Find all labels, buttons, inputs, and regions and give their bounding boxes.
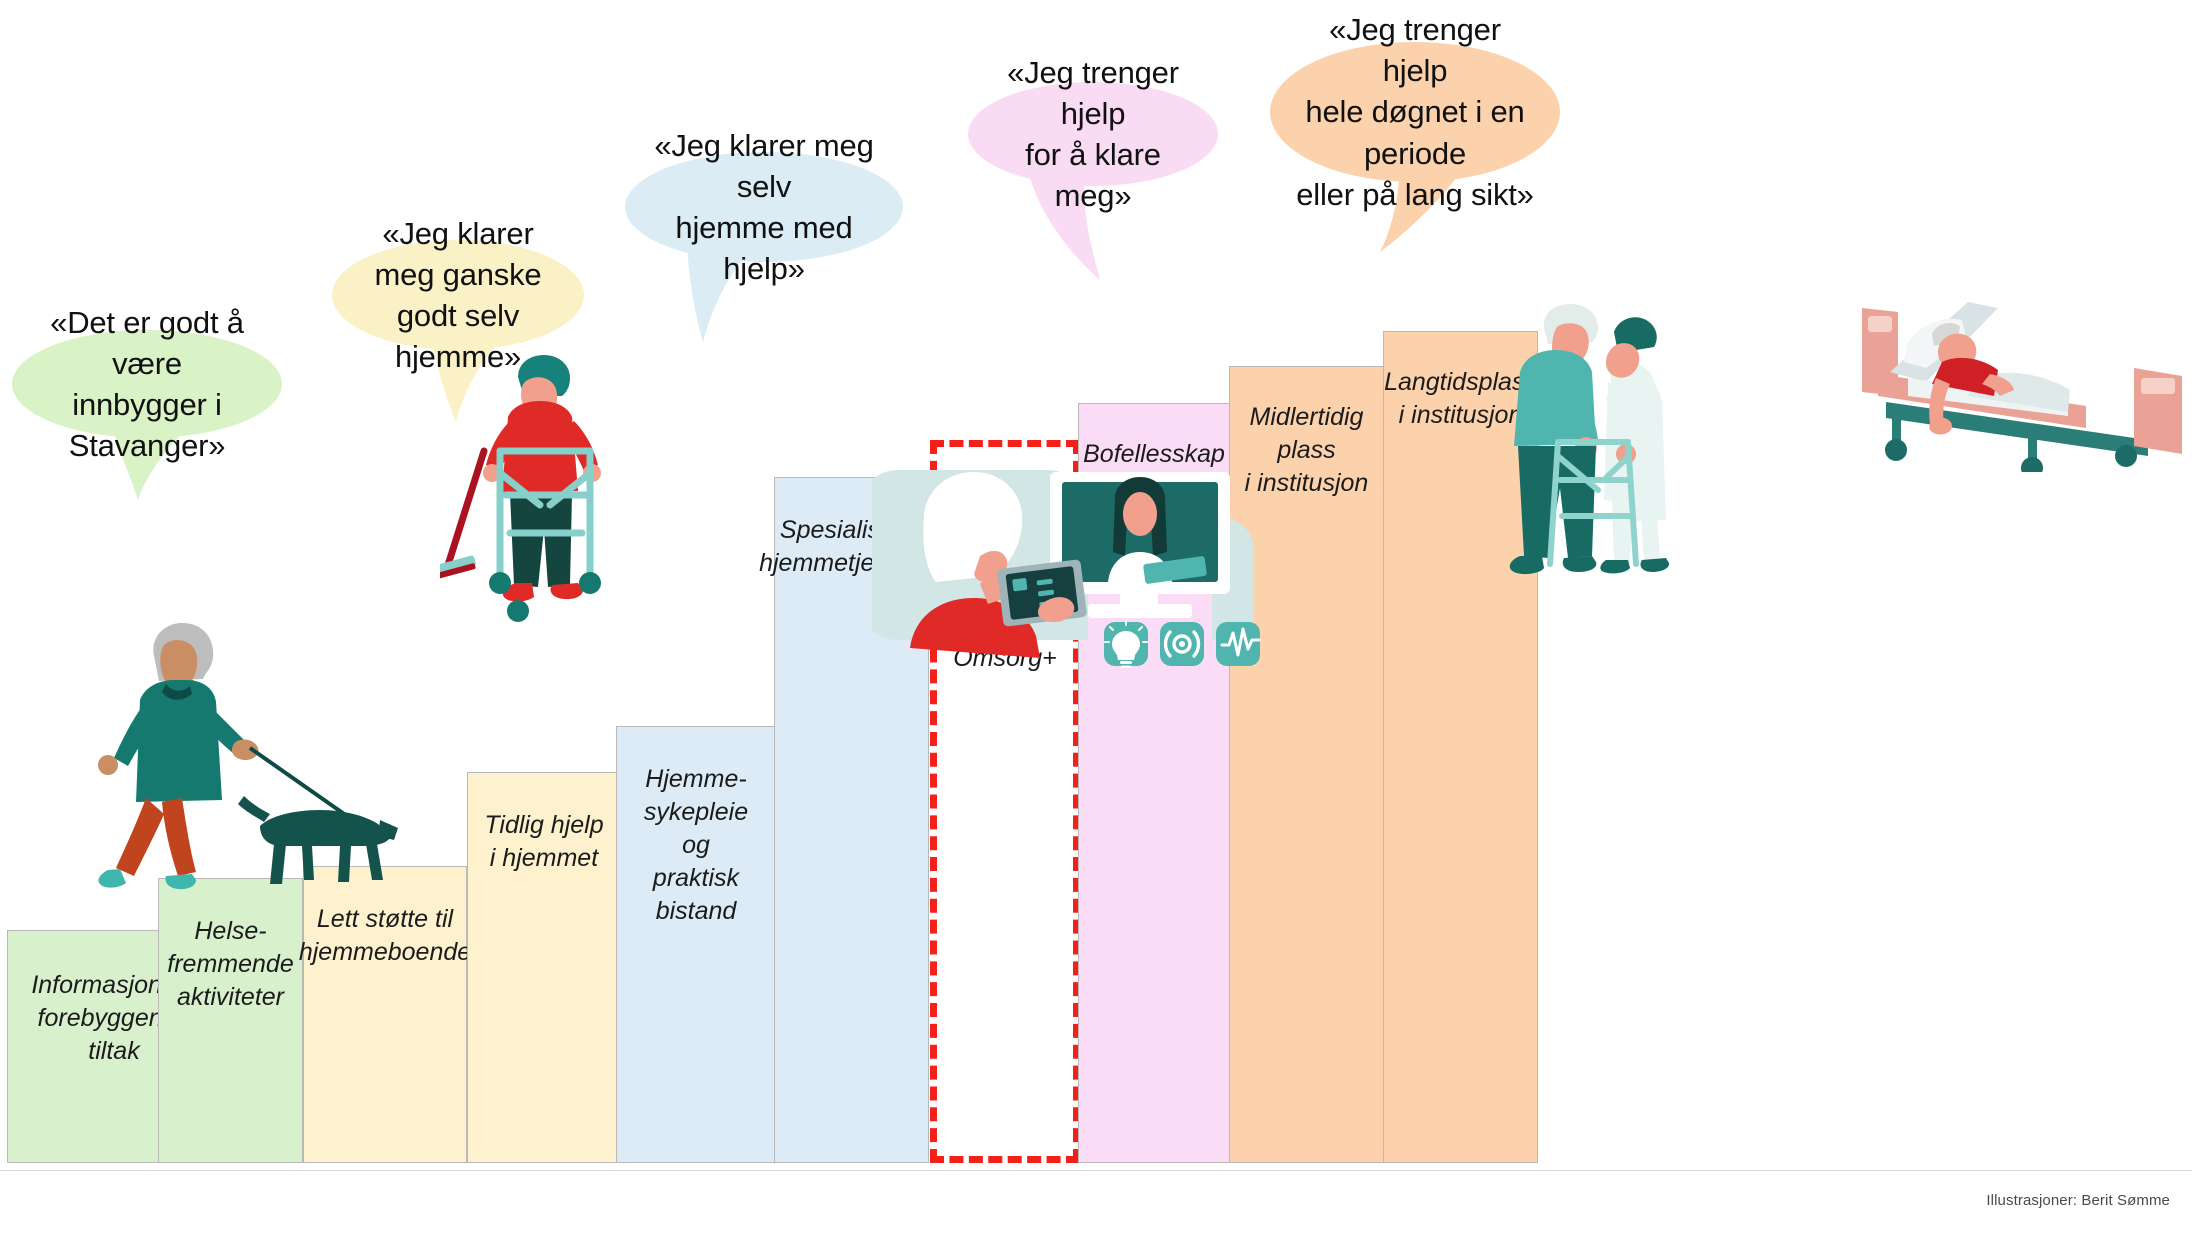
speech-bubble-selv-med-hjelp: «Jeg klarer meg selv hjemme med hjelp» xyxy=(625,152,903,262)
patient-in-hospital-bed-svg xyxy=(1838,250,2190,472)
step-tidlig-hjelp-i-hjemmet[interactable]: Tidlig hjelp i hjemmet xyxy=(467,772,621,1163)
bubble-body: «Det er godt å være innbygger i Stavange… xyxy=(12,330,282,438)
patient-in-hospital-bed-illustration xyxy=(1838,250,2190,472)
welfare-icon-badges xyxy=(1104,621,1260,668)
bubble-text: «Jeg klarer meg ganske godt selv hjemme» xyxy=(332,213,584,378)
step-label: Tidlig hjelp i hjemmet xyxy=(472,809,615,875)
elderly-man-with-nurse-illustration xyxy=(1502,302,1732,582)
bubble-text: «Jeg klarer meg selv hjemme med hjelp» xyxy=(625,125,903,290)
bubble-text: «Jeg trenger hjelp for å klare meg» xyxy=(968,52,1218,217)
omsorgstrappen-diagram: Informasjon og forebyggende tiltak Helse… xyxy=(0,0,2192,1233)
elderly-man-with-nurse-svg xyxy=(1502,302,1732,582)
bubble-body: «Jeg trenger hjelp for å klare meg» xyxy=(968,82,1218,186)
step-hjemmesykepleie-og-praktisk-bistand[interactable]: Hjemme- sykepleie og praktisk bistand xyxy=(616,726,776,1163)
bubble-text: «Det er godt å være innbygger i Stavange… xyxy=(12,302,282,467)
speech-bubble-trenger-hjelp: «Jeg trenger hjelp for å klare meg» xyxy=(968,82,1218,186)
baseline-divider xyxy=(0,1170,2192,1171)
woman-walking-dog-illustration xyxy=(62,608,412,938)
woman-walking-dog-svg xyxy=(62,608,412,938)
step-label: Hjemme- sykepleie og praktisk bistand xyxy=(617,763,775,928)
speech-bubble-hele-dognet: «Jeg trenger hjelp hele døgnet i en peri… xyxy=(1270,42,1560,182)
bubble-body: «Jeg klarer meg ganske godt selv hjemme» xyxy=(332,240,584,350)
speech-bubble-innbygger: «Det er godt å være innbygger i Stavange… xyxy=(12,330,282,438)
video-consultation-illustration xyxy=(872,462,1272,682)
bubble-text: «Jeg trenger hjelp hele døgnet i en peri… xyxy=(1270,9,1560,215)
bubble-body: «Jeg trenger hjelp hele døgnet i en peri… xyxy=(1270,42,1560,182)
video-consultation-svg xyxy=(872,462,1272,682)
bubble-body: «Jeg klarer meg selv hjemme med hjelp» xyxy=(625,152,903,262)
speech-bubble-ganske-godt-selv: «Jeg klarer meg ganske godt selv hjemme» xyxy=(332,240,584,350)
illustration-credit: Illustrasjoner: Berit Sømme xyxy=(1986,1192,2170,1209)
